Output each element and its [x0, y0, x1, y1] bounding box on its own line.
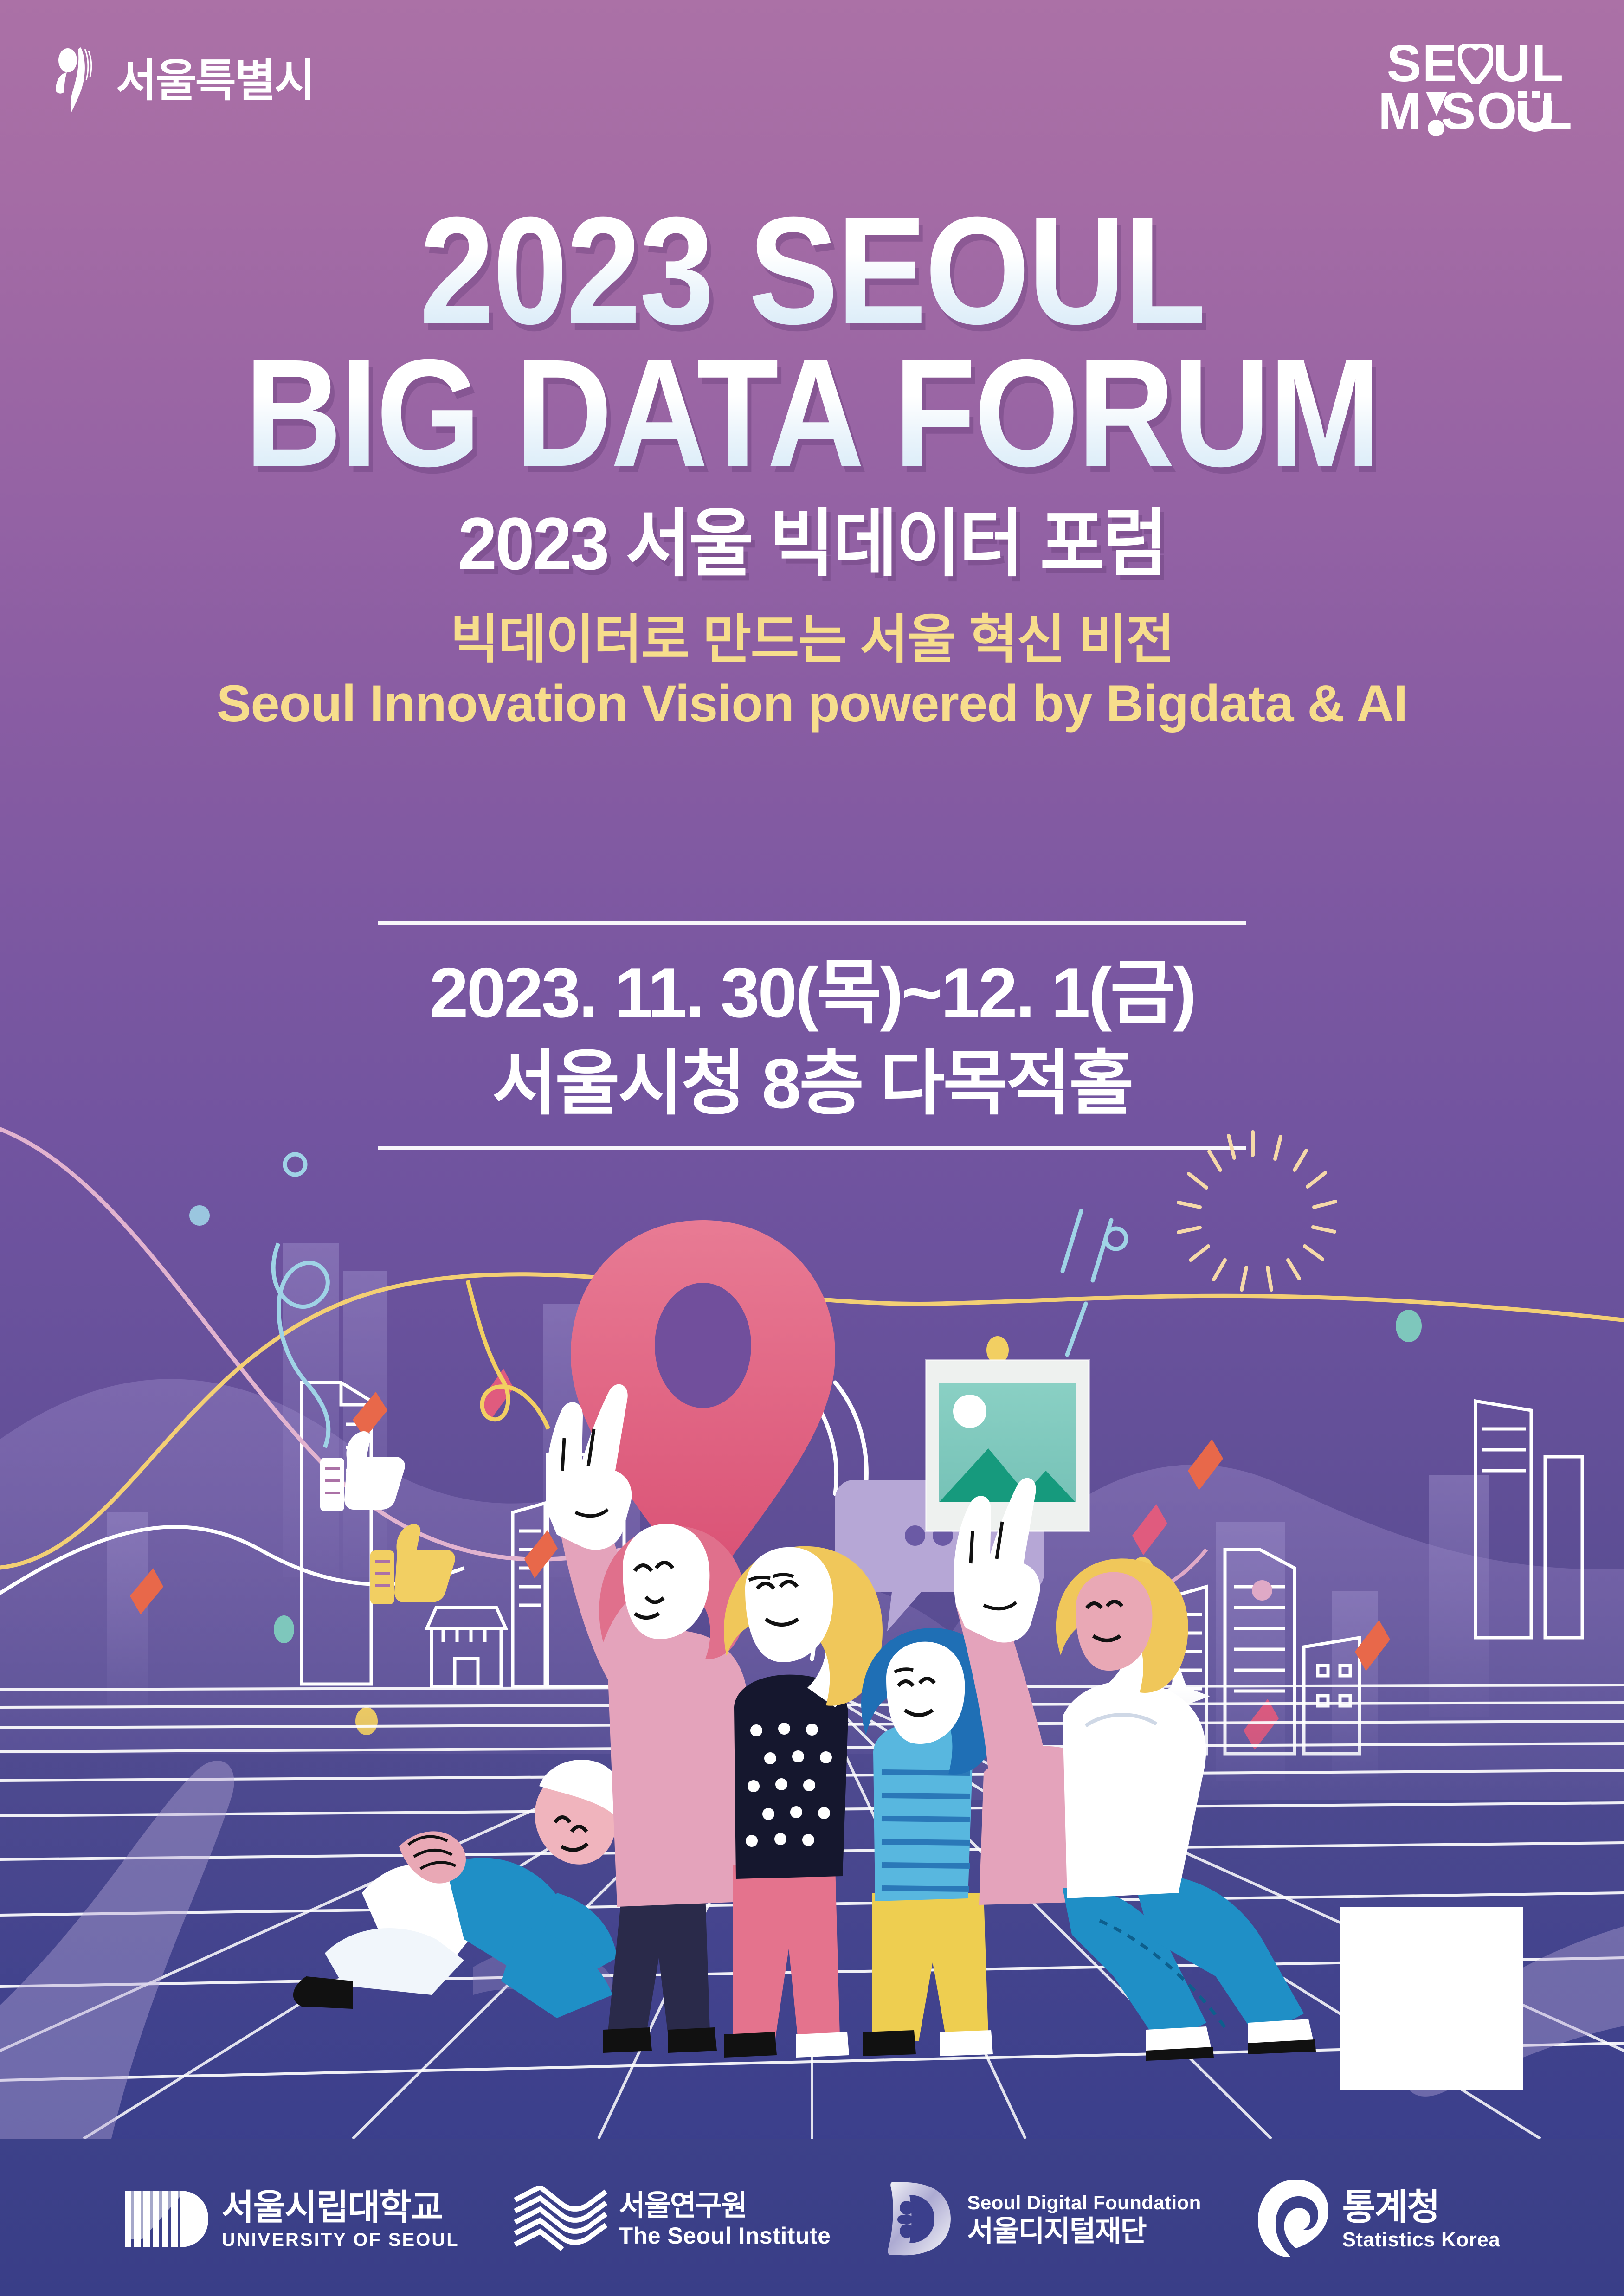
seoul-city-logo: 서울특별시	[51, 46, 314, 116]
tagline-english: Seoul Innovation Vision powered by Bigda…	[0, 672, 1624, 736]
tsi-wave-mark-icon	[514, 2186, 607, 2253]
uos-label-ko: 서울시립대학교	[222, 2189, 459, 2226]
divider-top	[378, 921, 1246, 925]
event-qr-code[interactable]	[1340, 1907, 1523, 2090]
seoul-city-emblem-icon	[51, 46, 102, 116]
exclamation-icon	[1422, 91, 1441, 132]
title-line-2: BIG DATA FORUM	[97, 342, 1527, 484]
uos-label-en: UNIVERSITY OF SEOUL	[222, 2230, 459, 2250]
logo-seoul-digital-foundation: Seoul Digital Foundation 서울디지털재단	[885, 2179, 1201, 2260]
sdf-d-mark-icon	[885, 2179, 955, 2260]
sdf-label-ko: 서울디지털재단	[967, 2216, 1201, 2246]
brand-text-so: SO	[1441, 87, 1518, 135]
uos-bars-mark-icon	[124, 2187, 210, 2252]
title-block: 2023 SEOUL BIG DATA FORUM 2023 서울 빅데이터 포…	[0, 199, 1624, 735]
taegeuk-mark-icon	[1256, 2178, 1330, 2261]
brand-text-m: M	[1378, 87, 1422, 135]
brand-line-1: SE UL	[1378, 39, 1573, 87]
poster-canvas: 서울특별시 SE UL M SO L 2023 SEOUL BIG DA	[0, 0, 1624, 2296]
sk-label-en: Statistics Korea	[1342, 2229, 1501, 2251]
brand-text-se: SE	[1387, 39, 1458, 87]
logo-the-seoul-institute: 서울연구원 The Seoul Institute	[514, 2186, 831, 2253]
title-korean: 2023 서울 빅데이터 포럼	[41, 505, 1584, 583]
title-line-1: 2023 SEOUL	[97, 199, 1527, 342]
footer-logo-row: 서울시립대학교 UNIVERSITY OF SEOUL 서울연구원	[0, 2143, 1624, 2296]
seoul-my-soul-logo: SE UL M SO L	[1378, 39, 1573, 135]
brand-line-2: M SO L	[1378, 87, 1573, 135]
seoul-city-logo-label: 서울특별시	[116, 59, 314, 103]
tsi-label-ko: 서울연구원	[619, 2191, 831, 2221]
event-date: 2023. 11. 30(목)~12. 1(금)	[0, 953, 1624, 1032]
tsi-label-en: The Seoul Institute	[619, 2224, 831, 2248]
sk-label-ko: 통계청	[1342, 2188, 1501, 2226]
event-info-block: 2023. 11. 30(목)~12. 1(금) 서울시청 8층 다목적홀	[0, 953, 1624, 1123]
u-umlaut-icon	[1518, 91, 1540, 132]
logo-university-of-seoul: 서울시립대학교 UNIVERSITY OF SEOUL	[124, 2187, 459, 2252]
photo-card-icon	[926, 1360, 1089, 1531]
brand-text-ul: UL	[1493, 39, 1564, 87]
qr-matrix	[1348, 1915, 1514, 2082]
tagline-block: 빅데이터로 만드는 서울 혁신 비전 Seoul Innovation Visi…	[0, 608, 1624, 736]
tagline-korean: 빅데이터로 만드는 서울 혁신 비전	[0, 608, 1624, 672]
logo-statistics-korea: 통계청 Statistics Korea	[1256, 2178, 1501, 2261]
sunburst-icon	[1179, 1132, 1335, 1290]
heart-icon	[1458, 44, 1493, 84]
sdf-label-en: Seoul Digital Foundation	[967, 2193, 1201, 2213]
